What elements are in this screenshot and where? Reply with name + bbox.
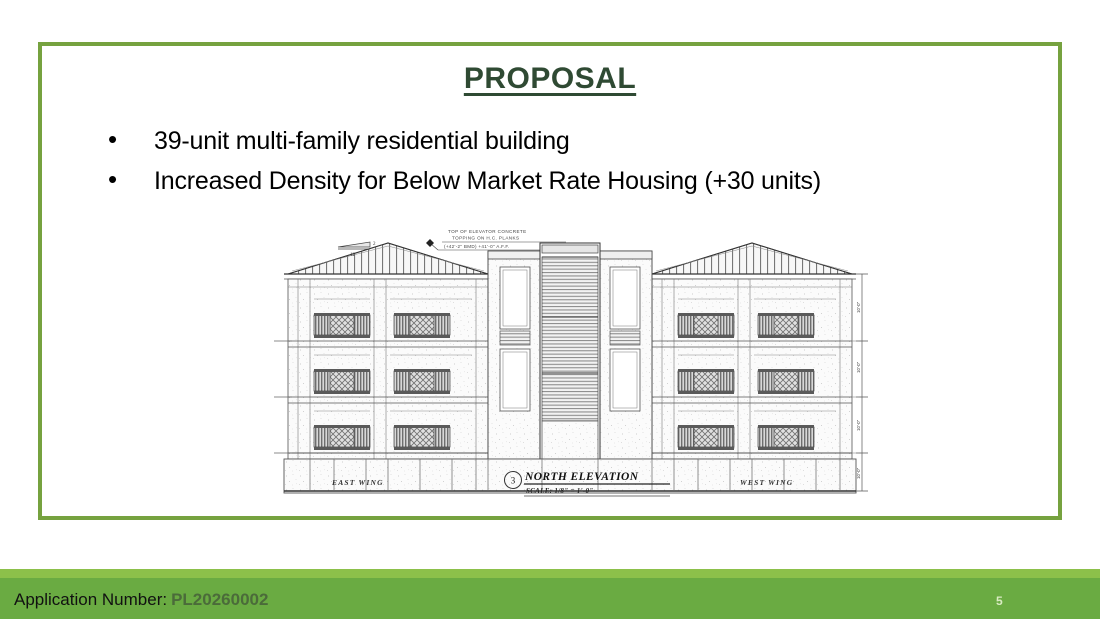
elevator-note-line2: TOPPING ON H.C. PLANKS [452,236,519,241]
balcony-railing [758,369,814,394]
dimension-string: 10'-0" 10'-0" 10'-0" 10'-0" [852,274,868,491]
bullet-text: Increased Density for Below Market Rate … [154,164,821,198]
east-wing-label: EAST WING [331,478,384,487]
slide-content-box: PROPOSAL • 39-unit multi-family resident… [38,42,1062,520]
dimension-label: 10'-0" [856,419,861,431]
bullet-text: 39-unit multi-family residential buildin… [154,124,570,158]
balcony-railing [314,425,370,450]
application-number-label: Application Number: [14,590,167,609]
application-number-group: Application Number:PL20260002 [14,590,268,610]
west-wing-facade [652,279,852,459]
balcony-railing [394,425,450,450]
balcony-railing [314,313,370,338]
dimension-label: 10'-0" [856,467,861,479]
application-number-value: PL20260002 [171,590,268,609]
footer-bar: Application Number:PL20260002 5 [0,578,1100,619]
balcony-railing [394,313,450,338]
balcony-railing [758,425,814,450]
dimension-label: 10'-0" [856,361,861,373]
caption-scale: SCALE: 1/8" = 1'-0" [526,487,593,495]
balcony-railing [394,369,450,394]
balcony-railing [678,369,734,394]
bullet-list: • 39-unit multi-family residential build… [102,124,1018,204]
architectural-elevation-drawing: 2 12 TOP OF ELEVATOR CONCRETE TOPPING ON… [270,221,870,506]
page-title: PROPOSAL [42,62,1058,96]
west-wing-label: WEST WING [740,478,793,487]
roof-pitch-rise-label: 2 [373,242,376,247]
footer-accent-strip [0,569,1100,578]
elevator-note-line1: TOP OF ELEVATOR CONCRETE [448,229,527,234]
bullet-marker-icon: • [102,164,154,194]
list-item: • Increased Density for Below Market Rat… [102,164,1018,198]
balcony-railing [678,313,734,338]
roof-pitch-run-label: 12 [350,253,356,258]
caption-number: 3 [511,476,516,486]
east-stair-tower [488,251,542,459]
caption-title: NORTH ELEVATION [524,471,639,483]
balcony-railing [758,313,814,338]
balcony-railing [678,425,734,450]
north-elevation-svg: 2 12 TOP OF ELEVATOR CONCRETE TOPPING ON… [270,221,870,506]
east-wing-facade [288,279,488,459]
list-item: • 39-unit multi-family residential build… [102,124,1018,158]
central-elevator-core [540,243,600,459]
dimension-label: 10'-0" [856,301,861,313]
west-stair-tower [598,251,652,459]
bullet-marker-icon: • [102,124,154,154]
page-number: 5 [996,594,1003,608]
west-wing-roof [648,243,856,279]
elevator-note-line3: (+42'-2" BMD) +41'-0" A.F.F. [444,244,510,249]
balcony-railing [314,369,370,394]
